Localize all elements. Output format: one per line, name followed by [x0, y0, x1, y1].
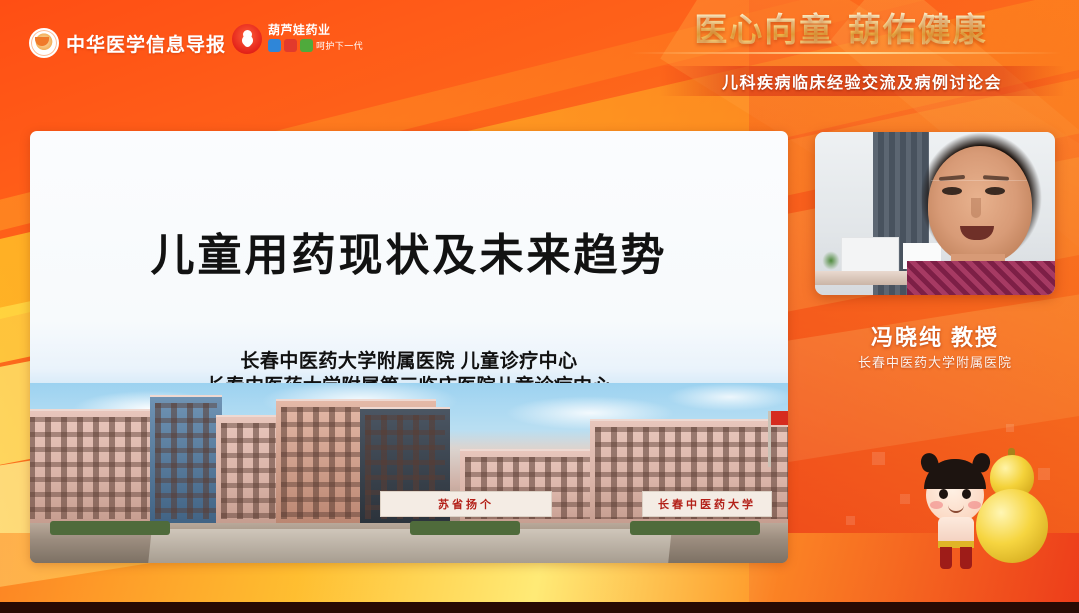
- boy-eye: [939, 489, 948, 499]
- building: [150, 395, 222, 529]
- bottom-dark-strip: [0, 602, 1079, 613]
- square-decoration: [900, 494, 910, 504]
- slide-subtitle-line-1: 长春中医药大学附属医院 儿童诊疗中心: [30, 349, 788, 374]
- speaker-organization: 长春中医药大学附属医院: [815, 352, 1055, 371]
- speaker-name: 冯晓纯 教授: [815, 320, 1055, 352]
- title-divider: [631, 52, 1061, 54]
- logo-huluwa[interactable]: 葫芦娃药业 呵护下一代: [232, 24, 363, 54]
- flagpole: [768, 411, 771, 467]
- event-subtitle-bar: 儿科疾病临床经验交流及病例讨论会: [659, 66, 1065, 96]
- event-title-block: 医心向童 葫佑健康: [631, 12, 1051, 57]
- furniture: [841, 237, 899, 273]
- hedge: [410, 521, 520, 535]
- speaker-nose: [971, 198, 981, 218]
- boy-cheek: [968, 501, 981, 509]
- hedge: [50, 521, 170, 535]
- hedge: [630, 521, 760, 535]
- slide-title: 儿童用药现状及未来趋势: [30, 219, 788, 283]
- chip-red-icon: [284, 39, 297, 52]
- event-title: 医心向童 葫佑健康: [631, 12, 1051, 48]
- square-decoration: [1006, 424, 1014, 432]
- hulu-flame-icon: [232, 24, 262, 54]
- chip-green-icon: [300, 39, 313, 52]
- event-subtitle: 儿科疾病临床经验交流及病例讨论会: [722, 69, 1002, 93]
- campus-sign-right: 长春中医药大学: [642, 491, 772, 517]
- campus-sign-left: 苏省扬个: [380, 491, 552, 517]
- logo-huluwa-label: 葫芦娃药业: [268, 24, 363, 36]
- square-decoration: [872, 452, 885, 465]
- boy-eye: [962, 489, 971, 499]
- chip-blue-icon: [268, 39, 281, 52]
- speaker-clothing: [907, 261, 1055, 295]
- campus-photo: 苏省扬个 长春中医药大学: [30, 383, 788, 563]
- boy-cheek: [930, 501, 943, 509]
- presentation-slide[interactable]: 儿童用药现状及未来趋势 长春中医药大学附属医院 儿童诊疗中心 长春中医药大学附属…: [30, 131, 788, 563]
- logo-huluwa-tagline: 呵护下一代: [316, 39, 363, 52]
- broadcast-stage: 中华医学信息导报 导报 葫芦娃药业 呵护下一代 医心向童 葫佑健康 儿科疾病临床…: [0, 0, 1079, 613]
- boy-leg: [940, 547, 952, 569]
- huluwa-boy: [918, 461, 996, 573]
- logo-cma-label: 中华医学信息导报: [66, 30, 226, 57]
- square-decoration: [846, 516, 855, 525]
- huluwa-mascot: [918, 443, 1058, 583]
- building: [460, 449, 600, 529]
- header-bar: 中华医学信息导报 导报 葫芦娃药业 呵护下一代 医心向童 葫佑健康 儿科疾病临床…: [0, 0, 1079, 104]
- boy-leg: [960, 547, 972, 569]
- cma-seal-icon: [29, 28, 59, 58]
- logo-cma[interactable]: 中华医学信息导报 导报: [29, 28, 257, 58]
- speaker-video-feed[interactable]: [815, 132, 1055, 295]
